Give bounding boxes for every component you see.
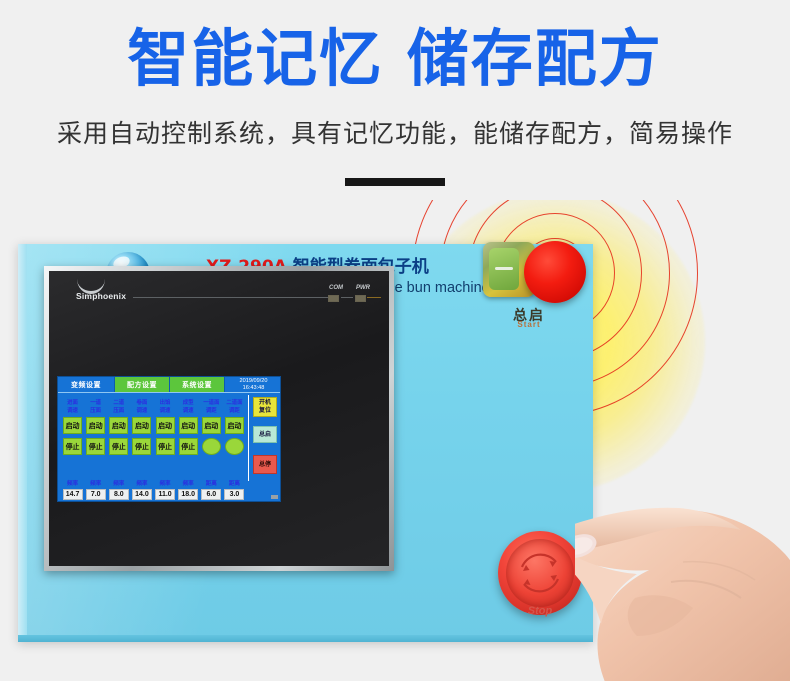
start-button-label-en: Start: [494, 320, 564, 329]
tab-system-settings[interactable]: 系统设置: [169, 377, 224, 392]
value-input[interactable]: 6.0: [201, 489, 221, 500]
stop-button[interactable]: 停止: [132, 438, 151, 455]
column-label-line2: 调速: [160, 407, 171, 415]
hmi-side-controls: 开机 复位 总启 总停: [248, 395, 280, 481]
column-label: 二道面 调距: [226, 395, 242, 417]
pwr-led-icon: [355, 295, 366, 302]
emergency-stop-label: Stop: [498, 605, 582, 617]
hmi-screen[interactable]: 变频设置 配方设置 系统设置 2019/09/20 16:43:48 进面 调速…: [57, 376, 281, 502]
hmi-value-row: 频率 14.7 频率 7.0 频率 8.0 频率 14.0 频率 11.0 频率…: [61, 481, 246, 502]
column-label-line1: 进面: [67, 399, 78, 407]
pointing-hand-photo: [575, 450, 790, 681]
panel-bottom-edge: [18, 635, 593, 642]
pwr-label: PWR: [356, 285, 370, 291]
column-label-line1: 二道: [113, 399, 124, 407]
value-input[interactable]: 8.0: [109, 489, 129, 500]
column-label-line1: 出馅: [160, 399, 171, 407]
power-on-reset-button[interactable]: 开机 复位: [253, 397, 277, 417]
hmi-clock-date: 2019/09/20: [240, 378, 268, 385]
column-label-line1: 卷面: [137, 399, 148, 407]
value-input[interactable]: 14.7: [63, 489, 83, 500]
master-start-button[interactable]: 总启: [253, 426, 277, 443]
tab-recipe-settings[interactable]: 配方设置: [114, 377, 169, 392]
hmi-function-grid: 进面 调速 启动 停止 一道 压面 启动 停止 二道 压面: [61, 395, 246, 481]
value-label: 频率: [183, 481, 194, 488]
value-label: 频率: [159, 481, 170, 488]
column-label: 一道 压面: [90, 395, 101, 417]
function-column: 卷面 调速 启动 停止: [130, 395, 153, 481]
value-input[interactable]: 14.0: [132, 489, 152, 500]
value-cell: 频率 7.0: [84, 481, 107, 502]
master-stop-button[interactable]: 总停: [253, 455, 277, 474]
start-button[interactable]: 启动: [132, 417, 151, 434]
column-label: 进面 调速: [67, 395, 78, 417]
column-label: 成型 调速: [183, 395, 194, 417]
column-label-line2: 调速: [183, 407, 194, 415]
header-divider-rule: [345, 178, 445, 186]
rotate-arrows-icon: [512, 545, 568, 601]
value-input[interactable]: 3.0: [224, 489, 244, 500]
column-label-line2: 调距: [203, 407, 219, 415]
value-label: 距离: [229, 481, 240, 488]
start-button[interactable]: 启动: [109, 417, 128, 434]
column-label-line2: 压面: [90, 407, 101, 415]
screen-corner-tag-icon: [271, 495, 278, 499]
value-label: 频率: [90, 481, 101, 488]
hmi-clock: 2019/09/20 16:43:48: [224, 377, 281, 392]
column-label: 卷面 调速: [137, 395, 148, 417]
function-column: 成型 调速 启动 停止: [177, 395, 200, 481]
column-label-line2: 调速: [137, 407, 148, 415]
value-cell: 频率 18.0: [177, 481, 200, 502]
bezel-trim-line-3: [367, 297, 381, 298]
start-button[interactable]: 启动: [225, 417, 244, 434]
tab-bar-underline: [58, 392, 281, 393]
column-label-line1: 成型: [183, 399, 194, 407]
status-lamp-indicator[interactable]: [225, 438, 244, 455]
value-label: 频率: [113, 481, 124, 488]
column-label-line2: 压面: [113, 407, 124, 415]
simphoenix-mark-icon: [77, 279, 105, 289]
hmi-vendor-name: Simphoenix: [76, 291, 126, 301]
function-column: 一道面 调距 启动: [200, 395, 223, 481]
start-button[interactable]: 启动: [156, 417, 175, 434]
start-button[interactable]: 启动: [202, 417, 221, 434]
stop-button[interactable]: 停止: [86, 438, 105, 455]
master-start-push-button[interactable]: [524, 241, 586, 303]
hmi-tab-bar: 变频设置 配方设置 系统设置 2019/09/20 16:43:48: [58, 377, 281, 392]
bezel-trim-line: [133, 297, 331, 298]
column-label-line2: 调速: [67, 407, 78, 415]
column-label: 一道面 调距: [203, 395, 219, 417]
tab-frequency-settings[interactable]: 变频设置: [58, 377, 114, 392]
page-subheadline: 采用自动控制系统，具有记忆功能，能储存配方，简易操作: [0, 118, 790, 150]
column-label: 出馅 调速: [160, 395, 171, 417]
column-label-line2: 调距: [226, 407, 242, 415]
column-label-line1: 一道: [90, 399, 101, 407]
com-label: COM: [329, 285, 343, 291]
bezel-trim-line-2: [341, 297, 353, 298]
function-column: 出馅 调速 启动 停止: [154, 395, 177, 481]
value-label: 频率: [136, 481, 147, 488]
value-cell: 距离 3.0: [223, 481, 246, 502]
value-cell: 频率 14.0: [130, 481, 153, 502]
value-label: 频率: [67, 481, 78, 488]
status-lamp-indicator[interactable]: [202, 438, 221, 455]
stop-button[interactable]: 停止: [63, 438, 82, 455]
panel-left-edge: [18, 244, 27, 642]
reset-label-line2: 复位: [259, 407, 271, 415]
promo-header: 智能记忆 储存配方 采用自动控制系统，具有记忆功能，能储存配方，简易操作: [0, 0, 790, 200]
column-label-line1: 二道面: [226, 399, 242, 407]
column-label: 二道 压面: [113, 395, 124, 417]
value-input[interactable]: 18.0: [178, 489, 198, 500]
value-cell: 频率 14.7: [61, 481, 84, 502]
value-cell: 距离 6.0: [200, 481, 223, 502]
emergency-stop-button[interactable]: [498, 531, 582, 615]
product-photo-stage: 旭众机械 XUZHONG MACHINERY XZ-290A 智能型卷面包子机 …: [0, 200, 790, 681]
stop-button[interactable]: 停止: [179, 438, 198, 455]
value-input[interactable]: 11.0: [155, 489, 175, 500]
hmi-clock-time: 16:43:48: [243, 385, 265, 392]
start-button[interactable]: 启动: [179, 417, 198, 434]
start-button[interactable]: 启动: [63, 417, 82, 434]
stop-button[interactable]: 停止: [156, 438, 175, 455]
function-column: 一道 压面 启动 停止: [84, 395, 107, 481]
function-column: 进面 调速 启动 停止: [61, 395, 84, 481]
column-label-line1: 一道面: [203, 399, 219, 407]
reset-label-line1: 开机: [259, 399, 271, 407]
com-led-icon: [328, 295, 339, 302]
function-column: 二道面 调距 启动: [223, 395, 246, 481]
value-label: 距离: [206, 481, 217, 488]
start-button[interactable]: 启动: [86, 417, 105, 434]
stop-button[interactable]: 停止: [109, 438, 128, 455]
function-column: 二道 压面 启动 停止: [107, 395, 130, 481]
page-headline: 智能记忆 储存配方: [0, 22, 790, 96]
value-cell: 频率 8.0: [107, 481, 130, 502]
value-cell: 频率 11.0: [154, 481, 177, 502]
value-input[interactable]: 7.0: [86, 489, 106, 500]
